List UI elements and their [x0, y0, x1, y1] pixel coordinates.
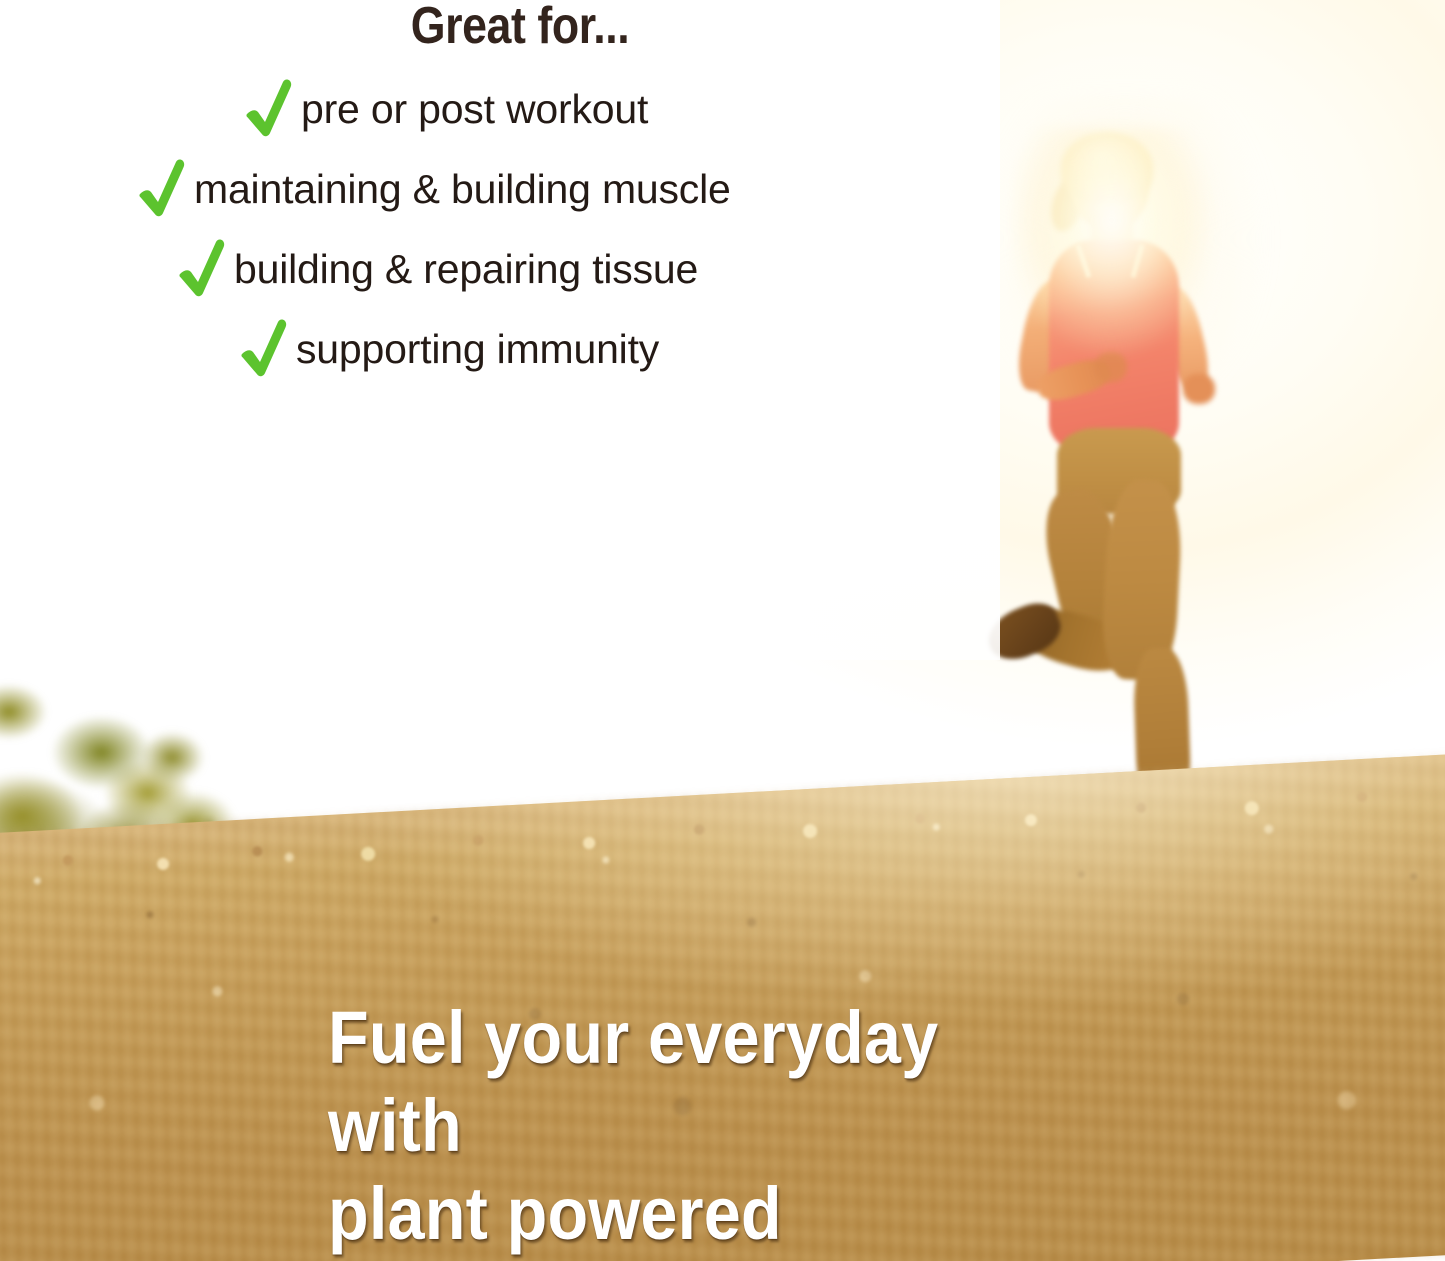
- tagline-line-1: Fuel your everyday with: [328, 994, 1066, 1170]
- benefit-item-building-repairing-tissue: building & repairing tissue: [176, 238, 698, 300]
- page-title: Great for...: [73, 0, 967, 56]
- benefit-label: pre or post workout: [301, 89, 648, 130]
- runner-left-fist: [1095, 352, 1127, 382]
- check-icon: [238, 318, 290, 380]
- benefit-item-pre-or-post-workout: pre or post workout: [243, 78, 648, 140]
- benefit-item-maintaining-building-muscle: maintaining & building muscle: [136, 158, 731, 220]
- benefit-label: building & repairing tissue: [234, 249, 698, 290]
- check-icon: [243, 78, 295, 140]
- tagline-line-2: plant powered nutrition: [328, 1170, 1066, 1261]
- check-icon: [136, 158, 188, 220]
- runner-hair: [1061, 132, 1153, 204]
- benefit-item-supporting-immunity: supporting immunity: [238, 318, 659, 380]
- runner-tank-top: [1049, 240, 1179, 452]
- runner-right-fist: [1183, 374, 1215, 404]
- benefit-label: maintaining & building muscle: [194, 169, 731, 210]
- product-benefits-poster: Great for... pre or post workout maintai…: [0, 0, 1445, 1261]
- benefit-label: supporting immunity: [296, 329, 659, 370]
- check-icon: [176, 238, 228, 300]
- tagline: Fuel your everyday with plant powered nu…: [328, 994, 1066, 1261]
- runner-figure: [975, 128, 1275, 844]
